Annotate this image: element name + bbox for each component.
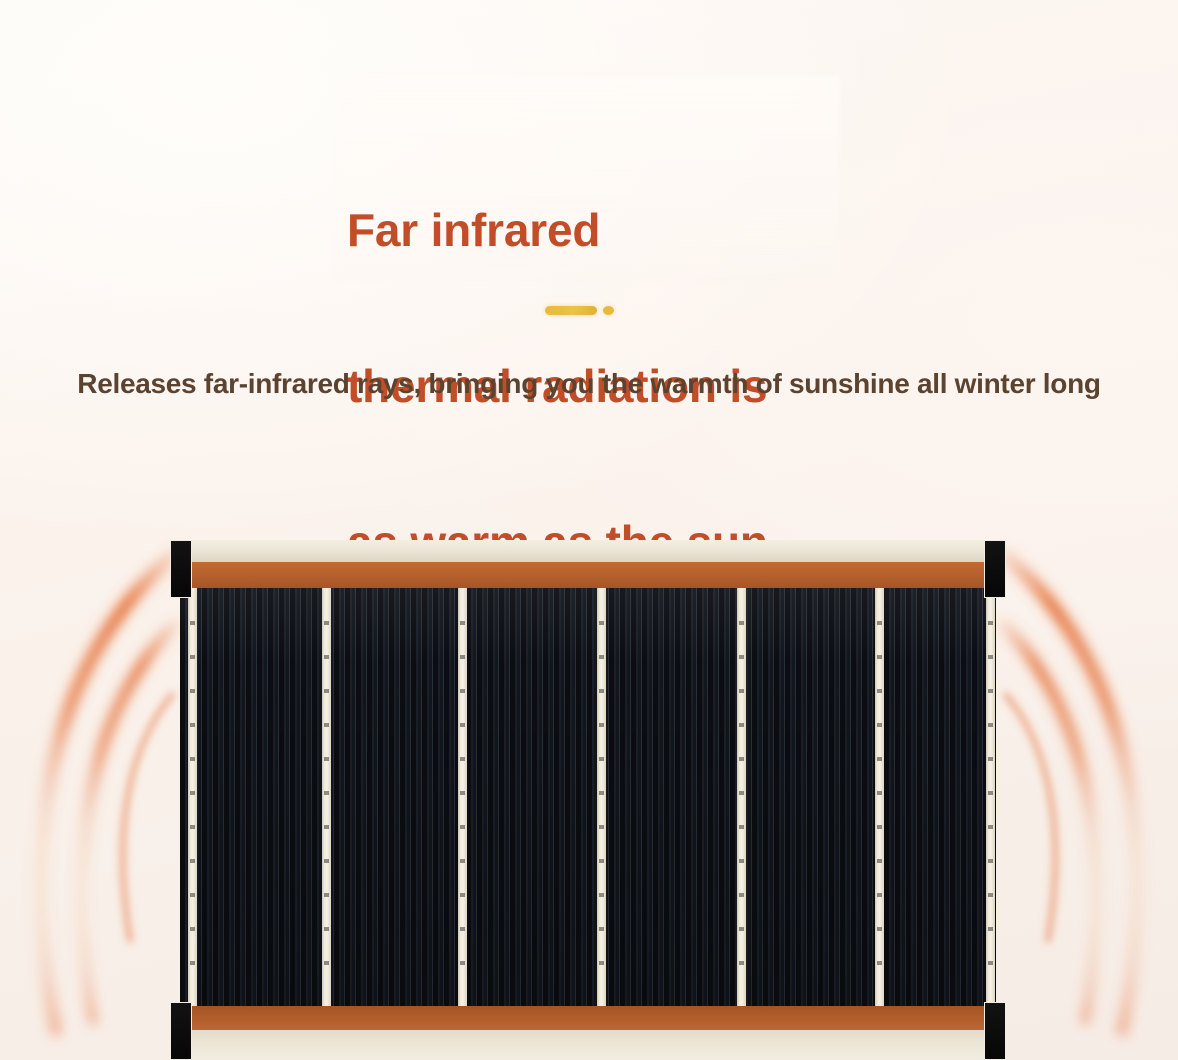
separator-ticks	[324, 621, 329, 972]
panel-top-rail	[180, 540, 996, 562]
decorative-divider	[545, 303, 621, 317]
far-infrared-radiant-heating-panel	[170, 540, 1006, 1060]
product-scene	[0, 500, 1178, 1060]
panel-bottom-rail	[180, 1030, 996, 1060]
page-subtitle: Releases far-infrared rays, bringing you…	[0, 362, 1178, 406]
panel-corner-cap-top-right	[984, 540, 1006, 598]
promo-banner: Far infrared thermal radiation is as war…	[0, 0, 1178, 1060]
panel-corner-cap-bottom-right	[984, 1002, 1006, 1060]
separator-ticks	[877, 621, 882, 972]
panel-separator-strip	[597, 588, 606, 1006]
panel-top-copper-bar	[180, 562, 996, 588]
divider-dot-icon	[603, 306, 614, 315]
panel-separator-strip	[986, 588, 995, 1006]
separator-ticks	[460, 621, 465, 972]
panel-separator-strip	[737, 588, 746, 1006]
panel-fin-array	[180, 588, 996, 1006]
panel-separator-strip	[322, 588, 331, 1006]
separator-ticks	[599, 621, 604, 972]
separator-ticks	[988, 621, 993, 972]
separator-ticks	[190, 621, 195, 972]
panel-separator-strip	[188, 588, 197, 1006]
divider-bar-icon	[545, 306, 597, 315]
headline-line-1: Far infrared	[347, 204, 867, 256]
panel-corner-cap-bottom-left	[170, 1002, 192, 1060]
panel-separator-strip	[875, 588, 884, 1006]
panel-separator-strip	[458, 588, 467, 1006]
panel-corner-cap-top-left	[170, 540, 192, 598]
separator-ticks	[739, 621, 744, 972]
panel-bottom-copper-bar	[180, 1006, 996, 1030]
